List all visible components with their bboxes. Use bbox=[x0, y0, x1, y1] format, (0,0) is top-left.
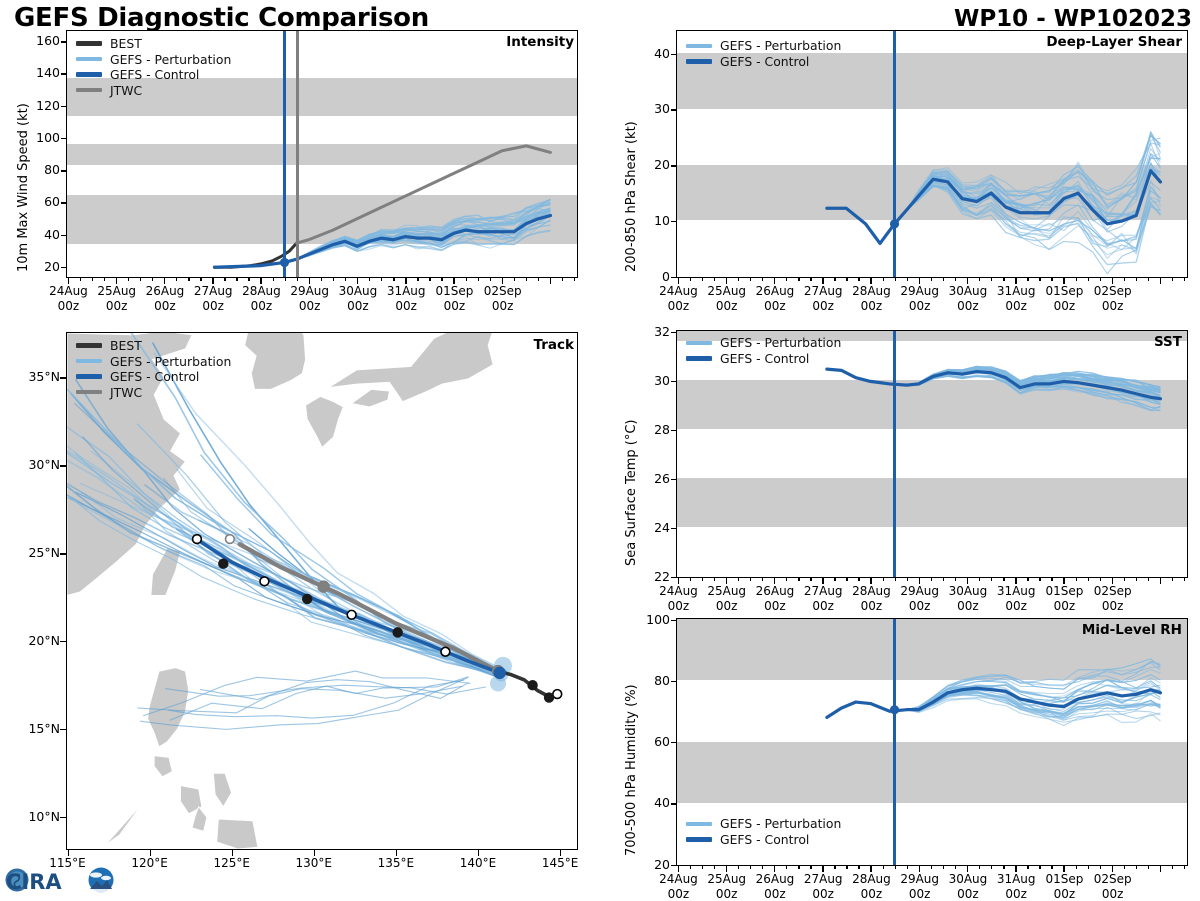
x-tick-mark bbox=[1088, 577, 1089, 581]
y-tick-label: 40 bbox=[16, 227, 60, 242]
y-tick-label: 100 bbox=[626, 612, 670, 627]
x-tick-mark bbox=[1112, 577, 1113, 584]
x-tick-mark bbox=[1184, 865, 1185, 869]
x-tick-date: 02Sep bbox=[1094, 584, 1132, 598]
y-tick-mark bbox=[60, 641, 66, 642]
legend-sst: GEFS - PerturbationGEFS - Control bbox=[686, 335, 841, 366]
x-tick-date: 30Aug bbox=[339, 284, 378, 298]
legend-shear: GEFS - PerturbationGEFS - Control bbox=[686, 38, 841, 69]
mindoro-island bbox=[154, 756, 172, 777]
x-tick-hour: 00z bbox=[444, 299, 466, 313]
x-tick-date: 25Aug bbox=[707, 284, 746, 298]
x-tick-hour: 00z bbox=[58, 299, 80, 313]
x-tick-date: 30Aug bbox=[949, 584, 988, 598]
x-tick-mark bbox=[1124, 277, 1125, 281]
x-tick-hour: 00z bbox=[764, 599, 786, 613]
y-tick-label-lat: 35°N bbox=[4, 369, 60, 384]
x-tick-date: 24Aug bbox=[659, 284, 698, 298]
x-tick-mark bbox=[907, 865, 908, 869]
x-tick-mark bbox=[1184, 577, 1185, 581]
svg-text:CIRA: CIRA bbox=[6, 870, 62, 894]
y-tick-mark bbox=[671, 681, 676, 682]
x-tick-mark bbox=[883, 865, 884, 869]
axis-label-rh-y: 700-500 hPa Humidity (%) bbox=[624, 684, 639, 856]
axis-label-intensity-y: 10m Max Wind Speed (kt) bbox=[16, 103, 31, 272]
shikoku-island bbox=[352, 389, 390, 407]
x-tick-mark bbox=[955, 277, 956, 281]
x-tick-date: 24Aug bbox=[659, 584, 698, 598]
x-tick-mark bbox=[762, 577, 763, 581]
x-tick-mark bbox=[478, 849, 479, 856]
x-tick-mark bbox=[919, 277, 920, 284]
x-tick-mark bbox=[1039, 865, 1040, 869]
y-tick-mark bbox=[61, 202, 66, 203]
track-marker bbox=[441, 647, 450, 656]
x-tick-mark bbox=[1003, 865, 1004, 869]
x-tick-mark bbox=[714, 277, 715, 281]
legend-label-jtwc: JTWC bbox=[110, 385, 142, 400]
x-tick-mark bbox=[357, 277, 358, 284]
x-tick-mark bbox=[116, 277, 117, 284]
x-tick-mark bbox=[212, 277, 213, 284]
x-tick-mark bbox=[702, 277, 703, 281]
legend-item-perturbation: GEFS - Perturbation bbox=[686, 38, 841, 54]
x-tick-mark bbox=[834, 577, 835, 581]
legend-swatch-best bbox=[76, 343, 102, 348]
x-tick-mark bbox=[810, 277, 811, 281]
x-tick-mark bbox=[1039, 277, 1040, 281]
y-tick-label-lat: 10°N bbox=[4, 809, 60, 824]
y-tick-label: 60 bbox=[626, 734, 670, 749]
track-marker bbox=[347, 610, 356, 619]
x-tick-mark bbox=[678, 277, 679, 284]
x-tick-date: 26Aug bbox=[756, 584, 795, 598]
x-tick-mark bbox=[931, 577, 932, 581]
x-tick-mark bbox=[314, 849, 315, 856]
x-tick-mark bbox=[943, 277, 944, 281]
x-tick-hour: 00z bbox=[1054, 299, 1076, 313]
x-tick-hour: 00z bbox=[957, 887, 979, 901]
x-tick-date: 24Aug bbox=[659, 872, 698, 886]
x-tick-mark bbox=[1015, 577, 1016, 584]
x-tick-mark bbox=[1003, 277, 1004, 281]
y-tick-mark bbox=[671, 54, 676, 55]
legend-rh: GEFS - PerturbationGEFS - Control bbox=[686, 816, 841, 847]
legend-item-control: GEFS - Control bbox=[686, 351, 841, 367]
y-tick-label: 80 bbox=[16, 162, 60, 177]
y-tick-label-lat: 25°N bbox=[4, 545, 60, 560]
x-tick-mark bbox=[714, 577, 715, 581]
kyushu-island bbox=[306, 396, 344, 447]
x-tick-hour: 00z bbox=[668, 887, 690, 901]
x-tick-date: 26Aug bbox=[756, 872, 795, 886]
x-tick-mark bbox=[1088, 865, 1089, 869]
x-tick-mark bbox=[690, 865, 691, 869]
x-tick-date: 31Aug bbox=[997, 284, 1036, 298]
x-tick-mark bbox=[150, 849, 151, 856]
x-tick-mark bbox=[991, 865, 992, 869]
legend-swatch-control bbox=[76, 374, 102, 379]
x-tick-mark bbox=[810, 577, 811, 581]
x-tick-mark bbox=[490, 277, 491, 281]
x-tick-hour: 00z bbox=[1102, 599, 1124, 613]
x-tick-date: 01Sep bbox=[1045, 284, 1083, 298]
init-time-line-gefs bbox=[283, 31, 286, 277]
y-tick-label-lat: 30°N bbox=[4, 457, 60, 472]
x-tick-mark bbox=[1015, 865, 1016, 872]
axis-label-shear-y: 200-850 hPa Shear (kt) bbox=[624, 121, 639, 272]
y-tick-mark bbox=[61, 267, 66, 268]
x-tick-mark bbox=[1160, 865, 1161, 872]
x-tick-mark bbox=[738, 577, 739, 581]
x-tick-mark bbox=[285, 277, 286, 281]
track-marker bbox=[219, 559, 228, 568]
x-tick-mark bbox=[1076, 865, 1077, 869]
legend-item-jtwc: JTWC bbox=[76, 385, 231, 401]
x-tick-label: 02Sep00z bbox=[1081, 584, 1145, 613]
x-tick-mark bbox=[991, 277, 992, 281]
x-tick-mark bbox=[68, 277, 69, 284]
x-tick-hour: 00z bbox=[1054, 887, 1076, 901]
x-tick-hour: 00z bbox=[716, 599, 738, 613]
x-tick-mark bbox=[1051, 577, 1052, 581]
legend-label-best: BEST bbox=[110, 36, 142, 51]
x-tick-mark bbox=[417, 277, 418, 281]
y-tick-mark bbox=[671, 620, 676, 621]
x-tick-hour: 00z bbox=[716, 299, 738, 313]
x-tick-mark bbox=[104, 277, 105, 281]
x-tick-mark bbox=[967, 577, 968, 584]
x-tick-mark bbox=[1076, 577, 1077, 581]
x-tick-hour: 00z bbox=[1005, 599, 1027, 613]
x-tick-mark bbox=[858, 865, 859, 869]
x-tick-mark bbox=[774, 277, 775, 284]
x-tick-mark bbox=[1184, 277, 1185, 281]
x-tick-mark bbox=[967, 277, 968, 284]
x-tick-hour: 00z bbox=[299, 299, 321, 313]
legend-label-perturbation: GEFS - Perturbation bbox=[720, 38, 841, 53]
x-tick-mark bbox=[514, 277, 515, 281]
legend-swatch-perturbation bbox=[76, 359, 102, 363]
x-tick-hour: 00z bbox=[251, 299, 273, 313]
x-tick-mark bbox=[1172, 277, 1173, 281]
x-tick-mark bbox=[774, 865, 775, 872]
x-tick-mark bbox=[333, 277, 334, 281]
panel-title-sst: SST bbox=[1094, 334, 1182, 350]
x-tick-mark bbox=[895, 577, 896, 581]
x-tick-mark bbox=[858, 277, 859, 281]
x-tick-mark bbox=[991, 577, 992, 581]
x-tick-mark bbox=[1027, 865, 1028, 869]
track-marker bbox=[393, 628, 402, 637]
x-tick-mark bbox=[236, 277, 237, 281]
x-tick-mark bbox=[822, 577, 823, 584]
legend-label-control: GEFS - Control bbox=[110, 67, 199, 82]
x-tick-date: 01Sep bbox=[435, 284, 473, 298]
x-tick-mark bbox=[345, 277, 346, 281]
x-tick-hour: 00z bbox=[909, 887, 931, 901]
x-tick-mark bbox=[907, 277, 908, 281]
x-tick-mark bbox=[1136, 577, 1137, 581]
x-tick-hour: 00z bbox=[1102, 887, 1124, 901]
x-tick-date: 01Sep bbox=[1045, 872, 1083, 886]
x-tick-mark bbox=[919, 865, 920, 872]
y-tick-mark bbox=[671, 577, 676, 578]
legend-item-control: GEFS - Control bbox=[76, 67, 231, 83]
x-tick-mark bbox=[381, 277, 382, 281]
y-tick-mark bbox=[671, 479, 676, 480]
y-tick-label: 140 bbox=[16, 65, 60, 80]
x-tick-mark bbox=[870, 577, 871, 584]
x-tick-mark bbox=[895, 277, 896, 281]
panel-track[interactable] bbox=[66, 332, 578, 850]
x-tick-hour: 00z bbox=[1102, 299, 1124, 313]
x-tick-hour: 00z bbox=[861, 599, 883, 613]
x-tick-date: 26Aug bbox=[146, 284, 185, 298]
x-tick-mark bbox=[955, 577, 956, 581]
track-marker bbox=[225, 535, 234, 544]
y-tick-mark bbox=[671, 221, 676, 222]
series-layer-sst bbox=[677, 331, 1187, 577]
x-tick-mark bbox=[786, 277, 787, 281]
x-tick-hour: 00z bbox=[492, 299, 514, 313]
x-tick-mark bbox=[1100, 865, 1101, 869]
legend-swatch-perturbation bbox=[686, 341, 712, 345]
x-tick-mark bbox=[979, 865, 980, 869]
x-tick-mark bbox=[1112, 277, 1113, 284]
x-tick-date: 28Aug bbox=[242, 284, 281, 298]
x-tick-date: 27Aug bbox=[804, 284, 843, 298]
x-tick-mark bbox=[690, 577, 691, 581]
x-tick-mark bbox=[68, 849, 69, 856]
x-tick-mark bbox=[140, 277, 141, 281]
x-tick-mark bbox=[1148, 577, 1149, 581]
x-tick-hour: 00z bbox=[154, 299, 176, 313]
y-tick-mark bbox=[671, 430, 676, 431]
y-tick-mark bbox=[671, 332, 676, 333]
panel-title-track: Track bbox=[490, 337, 574, 353]
x-tick-mark bbox=[726, 865, 727, 872]
x-tick-date: 29Aug bbox=[900, 284, 939, 298]
legend-swatch-control bbox=[76, 72, 102, 77]
x-tick-mark bbox=[714, 865, 715, 869]
y-tick-label: 26 bbox=[626, 471, 670, 486]
legend-item-perturbation: GEFS - Perturbation bbox=[686, 335, 841, 351]
x-tick-mark bbox=[396, 849, 397, 856]
x-tick-mark bbox=[429, 277, 430, 281]
track-marker bbox=[303, 595, 312, 604]
x-tick-mark bbox=[1136, 277, 1137, 281]
x-tick-mark bbox=[560, 849, 561, 856]
panel-sst[interactable] bbox=[676, 330, 1188, 578]
y-tick-mark bbox=[671, 803, 676, 804]
init-time-line-gefs bbox=[893, 331, 896, 577]
legend-item-control: GEFS - Control bbox=[76, 369, 231, 385]
x-tick-mark bbox=[224, 277, 225, 281]
y-tick-label: 20 bbox=[626, 857, 670, 872]
legend-item-perturbation: GEFS - Perturbation bbox=[686, 816, 841, 832]
x-tick-hour: 00z bbox=[668, 299, 690, 313]
x-tick-mark bbox=[846, 865, 847, 869]
x-tick-mark bbox=[405, 277, 406, 284]
legend-swatch-perturbation bbox=[686, 822, 712, 826]
x-tick-mark bbox=[846, 277, 847, 281]
legend-swatch-best bbox=[76, 41, 102, 46]
x-tick-mark bbox=[1100, 277, 1101, 281]
x-tick-mark bbox=[907, 577, 908, 581]
track-marker bbox=[545, 693, 554, 702]
y-tick-mark bbox=[61, 235, 66, 236]
y-tick-label: 80 bbox=[626, 673, 670, 688]
x-tick-mark bbox=[574, 277, 575, 281]
y-tick-label: 120 bbox=[16, 98, 60, 113]
x-tick-mark bbox=[690, 277, 691, 281]
x-tick-mark bbox=[1051, 277, 1052, 281]
x-tick-mark bbox=[1160, 277, 1161, 284]
x-tick-date: 27Aug bbox=[804, 872, 843, 886]
y-tick-mark bbox=[61, 73, 66, 74]
honshu-island bbox=[329, 333, 505, 402]
x-tick-date: 31Aug bbox=[387, 284, 426, 298]
y-tick-mark bbox=[61, 170, 66, 171]
y-tick-mark bbox=[671, 381, 676, 382]
x-tick-mark bbox=[870, 277, 871, 284]
x-tick-mark bbox=[441, 277, 442, 281]
x-tick-mark bbox=[176, 277, 177, 281]
x-tick-mark bbox=[478, 277, 479, 281]
legend-label-control: GEFS - Control bbox=[720, 832, 809, 847]
y-tick-mark bbox=[60, 729, 66, 730]
y-tick-label: 60 bbox=[16, 194, 60, 209]
x-tick-mark bbox=[883, 277, 884, 281]
x-tick-hour: 00z bbox=[202, 299, 224, 313]
x-tick-hour: 00z bbox=[909, 299, 931, 313]
x-tick-date: 25Aug bbox=[707, 584, 746, 598]
x-tick-hour: 00z bbox=[764, 887, 786, 901]
y-tick-mark bbox=[671, 277, 676, 278]
x-tick-mark bbox=[1003, 577, 1004, 581]
x-tick-hour: 00z bbox=[106, 299, 128, 313]
y-tick-label: 32 bbox=[626, 324, 670, 339]
y-tick-label: 10 bbox=[626, 213, 670, 228]
x-tick-mark bbox=[1100, 577, 1101, 581]
legend-label-perturbation: GEFS - Perturbation bbox=[110, 52, 231, 67]
x-tick-mark bbox=[931, 277, 932, 281]
x-tick-mark bbox=[846, 577, 847, 581]
x-tick-mark bbox=[369, 277, 370, 281]
x-tick-mark bbox=[502, 277, 503, 284]
x-tick-mark bbox=[248, 277, 249, 281]
legend-swatch-jtwc bbox=[76, 390, 102, 394]
legend-swatch-control bbox=[686, 356, 712, 361]
x-tick-date: 31Aug bbox=[997, 584, 1036, 598]
x-tick-label-lon: 145°E bbox=[526, 856, 594, 871]
page-title: GEFS Diagnostic Comparison bbox=[14, 3, 429, 33]
track-marker bbox=[318, 581, 329, 592]
x-tick-label: 02Sep00z bbox=[1081, 872, 1145, 901]
y-tick-label-lat: 20°N bbox=[4, 633, 60, 648]
x-tick-hour: 00z bbox=[716, 887, 738, 901]
x-tick-mark bbox=[1063, 865, 1064, 872]
x-tick-hour: 00z bbox=[957, 299, 979, 313]
y-tick-label: 20 bbox=[16, 259, 60, 274]
init-time-line-gefs bbox=[893, 31, 896, 277]
x-tick-mark bbox=[702, 577, 703, 581]
x-tick-mark bbox=[152, 277, 153, 281]
storm-identifier: WP10 - WP102023 bbox=[954, 6, 1192, 32]
y-tick-mark bbox=[60, 377, 66, 378]
x-tick-mark bbox=[538, 277, 539, 281]
x-tick-mark bbox=[1112, 865, 1113, 872]
x-tick-mark bbox=[955, 865, 956, 869]
x-tick-mark bbox=[1124, 865, 1125, 869]
legend-label-perturbation: GEFS - Perturbation bbox=[720, 816, 841, 831]
y-tick-label: 20 bbox=[626, 157, 670, 172]
x-tick-mark bbox=[762, 865, 763, 869]
y-tick-label: 22 bbox=[626, 569, 670, 584]
x-tick-mark bbox=[260, 277, 261, 284]
legend-item-jtwc: JTWC bbox=[76, 83, 231, 99]
x-tick-mark bbox=[1148, 865, 1149, 869]
legend-label-best: BEST bbox=[110, 338, 142, 353]
x-tick-mark bbox=[1051, 865, 1052, 869]
x-tick-hour: 00z bbox=[861, 299, 883, 313]
x-tick-hour: 00z bbox=[812, 887, 834, 901]
x-tick-hour: 00z bbox=[668, 599, 690, 613]
x-tick-mark bbox=[1160, 577, 1161, 584]
axis-label-sst-y: Sea Surface Temp (°C) bbox=[624, 419, 639, 566]
x-tick-mark bbox=[164, 277, 165, 284]
y-tick-label: 40 bbox=[626, 46, 670, 61]
legend-label-control: GEFS - Control bbox=[110, 369, 199, 384]
y-tick-label: 30 bbox=[626, 101, 670, 116]
legend-swatch-control bbox=[686, 59, 712, 64]
x-tick-mark bbox=[895, 865, 896, 869]
y-tick-mark bbox=[671, 742, 676, 743]
samar-leyte-island bbox=[213, 773, 231, 806]
x-tick-mark bbox=[750, 277, 751, 281]
legend-swatch-perturbation bbox=[76, 57, 102, 61]
x-tick-mark bbox=[1172, 865, 1173, 869]
x-tick-hour: 00z bbox=[812, 299, 834, 313]
x-tick-mark bbox=[774, 577, 775, 584]
legend-swatch-control bbox=[686, 837, 712, 842]
x-tick-label: 02Sep00z bbox=[1081, 284, 1145, 313]
x-tick-date: 25Aug bbox=[707, 872, 746, 886]
x-tick-mark bbox=[188, 277, 189, 281]
x-tick-label-lon: 120°E bbox=[116, 856, 184, 871]
y-tick-mark bbox=[60, 817, 66, 818]
track-marker bbox=[193, 535, 202, 544]
x-tick-mark bbox=[1063, 577, 1064, 584]
x-tick-mark bbox=[822, 865, 823, 872]
y-tick-label: 160 bbox=[16, 33, 60, 48]
panel-title-shear: Deep-Layer Shear bbox=[1030, 34, 1182, 50]
legend-swatch-jtwc bbox=[76, 88, 102, 92]
x-tick-label: 02Sep00z bbox=[471, 284, 535, 313]
legend-item-best: BEST bbox=[76, 36, 231, 52]
palawan-island bbox=[105, 803, 143, 845]
x-tick-label-lon: 115°E bbox=[34, 856, 102, 871]
legend-label-control: GEFS - Control bbox=[720, 54, 809, 69]
x-tick-mark bbox=[526, 277, 527, 281]
x-tick-mark bbox=[1027, 577, 1028, 581]
x-tick-hour: 00z bbox=[909, 599, 931, 613]
x-tick-mark bbox=[1063, 277, 1064, 284]
x-tick-date: 29Aug bbox=[900, 584, 939, 598]
x-tick-mark bbox=[1136, 865, 1137, 869]
x-tick-date: 27Aug bbox=[804, 584, 843, 598]
